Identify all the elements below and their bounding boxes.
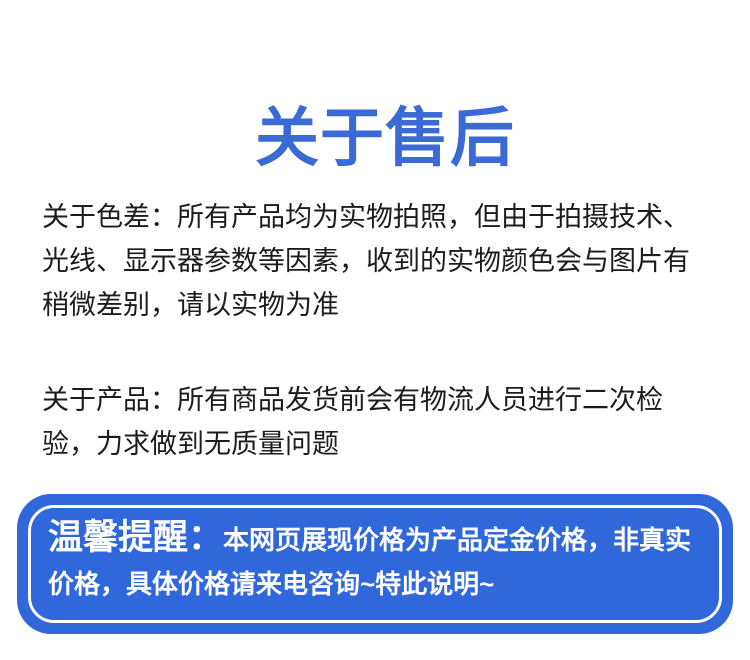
after-sales-info-page: 关于售后 关于色差：所有产品均为实物拍照，但由于拍摄技术、光线、显示器参数等因素…: [0, 0, 750, 660]
page-title: 关于售后: [0, 101, 750, 175]
banner-text: 温馨提醒：本网页展现价格为产品定金价格，非真实价格，具体价格请来电咨询~特此说明…: [48, 516, 707, 606]
warm-reminder-banner: 温馨提醒：本网页展现价格为产品定金价格，非真实价格，具体价格请来电咨询~特此说明…: [17, 494, 733, 634]
section-product-inspection: 关于产品：所有商品发货前会有物流人员进行二次检验，力求做到无质量问题: [42, 351, 714, 493]
banner-lead-label: 温馨提醒：: [48, 518, 223, 557]
product-inspection-text: 关于产品：所有商品发货前会有物流人员进行二次检验，力求做到无质量问题: [42, 378, 714, 466]
section-color-difference: 关于色差：所有产品均为实物拍照，但由于拍摄技术、光线、显示器参数等因素，收到的实…: [42, 168, 714, 354]
color-difference-text: 关于色差：所有产品均为实物拍照，但由于拍摄技术、光线、显示器参数等因素，收到的实…: [42, 195, 714, 327]
